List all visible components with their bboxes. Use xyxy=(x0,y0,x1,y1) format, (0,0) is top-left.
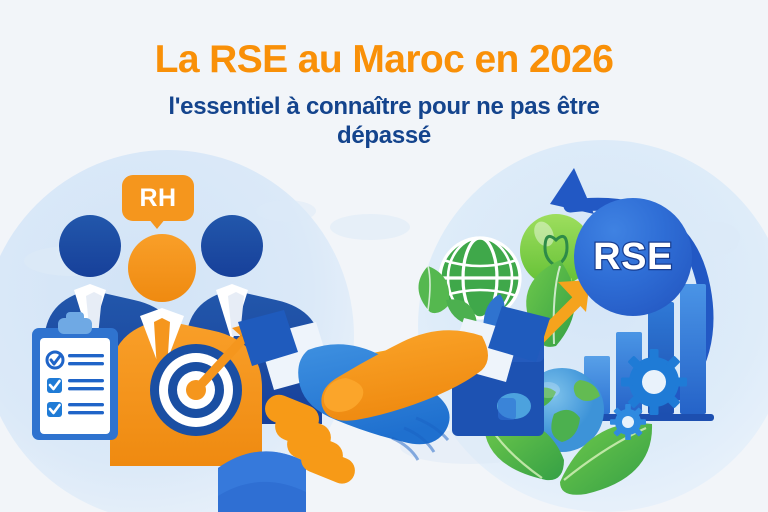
cloud-shape-3 xyxy=(330,214,410,240)
gear-small xyxy=(610,404,646,440)
infographic-canvas: La RSE au Maroc en 2026 l'essentiel à co… xyxy=(0,0,768,512)
rh-badge-tail xyxy=(148,218,166,229)
page-subtitle-line1: l'essentiel à connaître pour ne pas être xyxy=(96,92,672,121)
clipboard xyxy=(32,312,118,440)
handshake-orange-hand xyxy=(321,330,488,420)
page-title: La RSE au Maroc en 2026 xyxy=(0,38,768,82)
rse-badge-label: RSE xyxy=(593,238,673,276)
gear-large xyxy=(621,349,687,415)
page-subtitle: l'essentiel à connaître pour ne pas être… xyxy=(96,92,672,150)
page-subtitle-line2: dépassé xyxy=(96,121,672,150)
rse-badge: RSE xyxy=(574,198,692,316)
handshake xyxy=(268,292,518,472)
rh-badge-label: RH xyxy=(139,186,176,211)
rh-badge: RH xyxy=(122,175,194,221)
